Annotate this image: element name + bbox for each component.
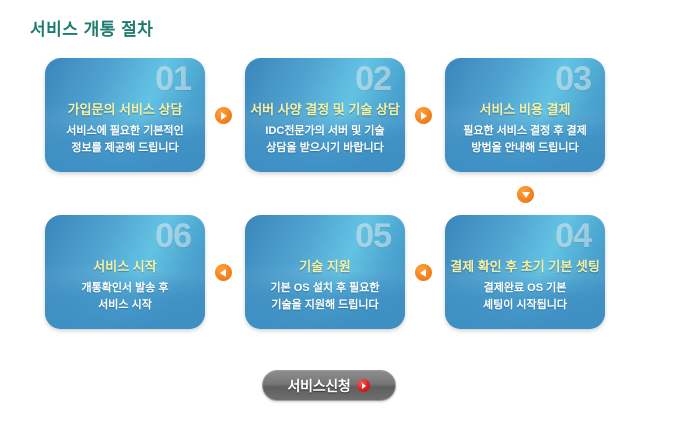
step-card-5[interactable]: 05 기술 지원 기본 OS 설치 후 필요한 기술을 지원해 드립니다 <box>245 215 405 329</box>
triangle-glyph <box>362 383 366 389</box>
step-description-5-line1: 기본 OS 설치 후 필요한 <box>270 282 379 294</box>
step-title-4: 결제 확인 후 초기 기본 셋팅 <box>445 256 605 275</box>
service-application-button[interactable]: 서비스신청 <box>262 370 396 401</box>
step-number-4: 04 <box>555 217 591 256</box>
step-number-2: 02 <box>355 60 391 99</box>
step-title-1: 가입문의 서비스 상담 <box>45 99 205 118</box>
service-application-button-label: 서비스신청 <box>288 376 351 396</box>
play-circle-icon <box>357 379 370 392</box>
step-description-3-line1: 필요한 서비스 결정 후 결제 <box>463 125 587 137</box>
service-process-page: 서비스 개통 절차 01 가입문의 서비스 상담 서비스에 필요한 기본적인 정… <box>0 0 680 445</box>
arrow-right-icon-step2-step3 <box>415 107 432 124</box>
step-card-2[interactable]: 02 서버 사양 결정 및 기술 상담 IDC전문가의 서버 및 기술 상담을 … <box>245 58 405 172</box>
step-description-6-line2: 서비스 시작 <box>45 297 205 314</box>
step-description-2: IDC전문가의 서버 및 기술 상담을 받으시기 바랍니다 <box>245 123 405 157</box>
page-title: 서비스 개통 절차 <box>30 15 153 40</box>
arrow-left-icon-step5-step6 <box>215 264 232 281</box>
step-description-5: 기본 OS 설치 후 필요한 기술을 지원해 드립니다 <box>245 280 405 314</box>
step-card-3[interactable]: 03 서비스 비용 결제 필요한 서비스 결정 후 결제 방법을 안내해 드립니… <box>445 58 605 172</box>
step-title-6: 서비스 시작 <box>45 256 205 275</box>
step-number-6: 06 <box>155 217 191 256</box>
step-description-6-line1: 개통확인서 발송 후 <box>81 282 168 294</box>
step-title-5: 기술 지원 <box>245 256 405 275</box>
step-card-1[interactable]: 01 가입문의 서비스 상담 서비스에 필요한 기본적인 정보를 제공해 드립니… <box>45 58 205 172</box>
step-number-3: 03 <box>555 60 591 99</box>
step-number-5: 05 <box>355 217 391 256</box>
step-description-2-line2: 상담을 받으시기 바랍니다 <box>245 140 405 157</box>
step-description-4-line2: 셰팅이 시작됩니다 <box>445 297 605 314</box>
step-number-1: 01 <box>155 60 191 99</box>
step-description-1-line1: 서비스에 필요한 기본적인 <box>66 125 183 137</box>
triangle-glyph <box>221 112 227 120</box>
arrow-right-icon-step1-step2 <box>215 107 232 124</box>
triangle-glyph <box>420 269 426 277</box>
arrow-down-icon-step3-step4 <box>517 186 534 203</box>
step-card-6[interactable]: 06 서비스 시작 개통확인서 발송 후 서비스 시작 <box>45 215 205 329</box>
triangle-glyph <box>522 192 530 198</box>
triangle-glyph <box>421 112 427 120</box>
step-description-5-line2: 기술을 지원해 드립니다 <box>245 297 405 314</box>
step-title-3: 서비스 비용 결제 <box>445 99 605 118</box>
step-description-3-line2: 방법을 안내해 드립니다 <box>445 140 605 157</box>
step-card-4[interactable]: 04 결제 확인 후 초기 기본 셋팅 결제완료 OS 기본 셰팅이 시작됩니다 <box>445 215 605 329</box>
step-description-6: 개통확인서 발송 후 서비스 시작 <box>45 280 205 314</box>
step-description-3: 필요한 서비스 결정 후 결제 방법을 안내해 드립니다 <box>445 123 605 157</box>
triangle-glyph <box>220 269 226 277</box>
step-description-1: 서비스에 필요한 기본적인 정보를 제공해 드립니다 <box>45 123 205 157</box>
step-description-2-line1: IDC전문가의 서버 및 기술 <box>265 125 384 137</box>
step-description-1-line2: 정보를 제공해 드립니다 <box>45 140 205 157</box>
step-description-4: 결제완료 OS 기본 셰팅이 시작됩니다 <box>445 280 605 314</box>
step-description-4-line1: 결제완료 OS 기본 <box>484 282 567 294</box>
arrow-left-icon-step4-step5 <box>415 264 432 281</box>
step-title-2: 서버 사양 결정 및 기술 상담 <box>245 99 405 118</box>
